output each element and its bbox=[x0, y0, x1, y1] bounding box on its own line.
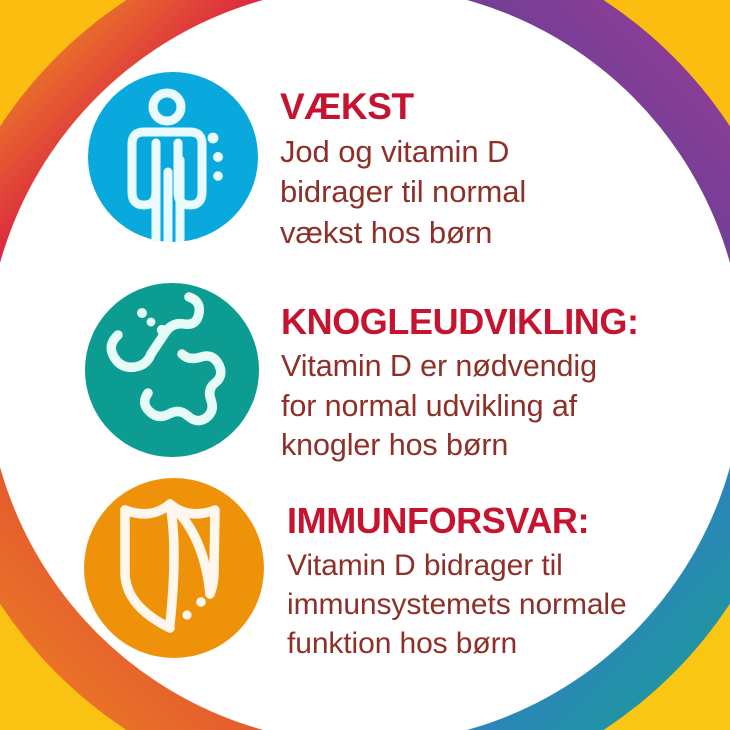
benefit-body: Vitamin D bidrager til immunsystemets no… bbox=[287, 546, 627, 663]
bone-dots bbox=[137, 308, 167, 335]
benefit-row-knogleudvikling: KNOGLEUDVIKLING: Vitamin D er nødvendig … bbox=[85, 283, 639, 466]
benefit-text-knogleudvikling: KNOGLEUDVIKLING: Vitamin D er nødvendig … bbox=[281, 304, 639, 466]
benefit-heading: VÆKST bbox=[280, 88, 526, 125]
body-growth-icon bbox=[88, 72, 258, 242]
benefit-text-immunforsvar: IMMUNFORSVAR: Vitamin D bidrager til imm… bbox=[287, 503, 627, 663]
body-growth-dots bbox=[208, 133, 223, 181]
benefit-body: Vitamin D er nødvendig for normal udvikl… bbox=[281, 347, 639, 466]
shield-icon-glyph bbox=[84, 478, 264, 658]
bone-icon bbox=[85, 283, 259, 457]
shield-icon bbox=[84, 478, 264, 658]
benefit-row-immunforsvar: IMMUNFORSVAR: Vitamin D bidrager til imm… bbox=[84, 478, 627, 663]
benefit-row-vaekst: VÆKST Jod og vitamin D bidrager til norm… bbox=[88, 72, 526, 253]
bone-icon-glyph bbox=[85, 283, 259, 457]
infographic-canvas: VÆKST Jod og vitamin D bidrager til norm… bbox=[0, 0, 730, 730]
benefit-heading: IMMUNFORSVAR: bbox=[287, 503, 627, 539]
body-growth-icon-glyph bbox=[88, 72, 258, 242]
benefit-text-vaekst: VÆKST Jod og vitamin D bidrager til norm… bbox=[280, 88, 526, 253]
benefit-rows: VÆKST Jod og vitamin D bidrager til norm… bbox=[0, 0, 730, 730]
shield-dots bbox=[182, 579, 216, 619]
benefit-heading: KNOGLEUDVIKLING: bbox=[281, 304, 639, 340]
benefit-body: Jod og vitamin D bidrager til normal væk… bbox=[280, 132, 526, 253]
